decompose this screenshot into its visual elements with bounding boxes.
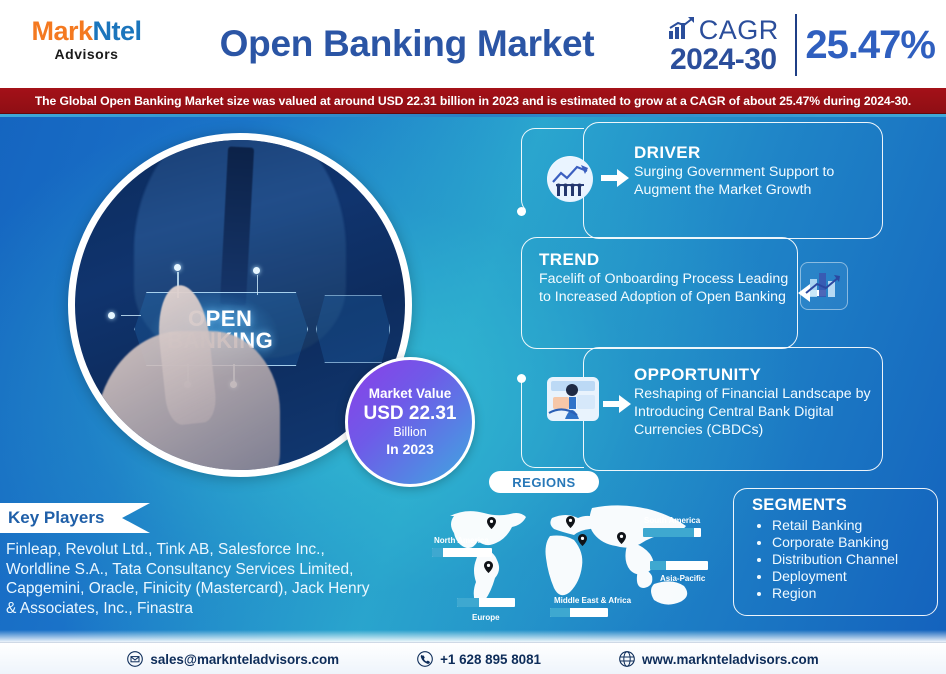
footer: sales@marknteladvisors.com +1 628 895 80… [0,642,946,674]
card-driver-title: DRIVER [634,143,874,163]
footer-shade [0,630,946,642]
list-item: Corporate Banking [772,534,937,551]
region-label-middle-east-africa: Middle East & Africa [554,596,631,605]
regions-label: REGIONS [489,471,599,493]
summary-banner: The Global Open Banking Market size was … [0,88,946,114]
key-players-label: Key Players [8,508,104,528]
cagr-period: 2024-30 [660,45,787,75]
region-bar-south-america [643,528,701,537]
government-growth-icon [547,156,593,202]
card-opportunity-text: Reshaping of Financial Landscape by Intr… [634,385,880,439]
card-driver-text: Surging Government Support to Augment th… [634,163,874,199]
globe-icon [619,651,635,667]
cagr-value: 25.47% [805,23,935,68]
card-trend-title: TREND [539,250,789,270]
market-value-label: Market Value [369,386,452,401]
footer-phone-text: +1 628 895 8081 [440,652,541,667]
segments-title: SEGMENTS [752,496,937,515]
cagr-left: CAGR 2024-30 [660,16,787,75]
logo-part-ntel: Ntel [93,16,142,46]
map-pin-south-america [484,560,492,571]
segments-list: Retail Banking Corporate Banking Distrib… [752,517,937,602]
cagr-block: CAGR 2024-30 25.47% [660,8,935,82]
arrow-right-icon [601,169,627,187]
page-title: Open Banking Market [172,16,642,72]
list-item: Region [772,585,937,602]
market-value-year: In 2023 [386,442,433,458]
phone-icon [417,651,433,667]
logo-wordmark: MarkNtel [14,18,159,45]
map-pin-europe [566,515,574,526]
region-label-south-america: South America [644,516,700,525]
region-label-europe: Europe [472,613,500,622]
market-value-amount: USD 22.31 [364,403,457,424]
header: MarkNtel Advisors Open Banking Market [0,0,946,88]
region-label-asia-pacific: Asia-Pacific [660,574,705,583]
cagr-label: CAGR [699,17,779,44]
infographic-page: MarkNtel Advisors Open Banking Market [0,0,946,674]
market-value-bubble: Market Value USD 22.31 Billion In 2023 [345,357,475,487]
footer-website-text: www.marknteladvisors.com [642,652,819,667]
list-item: Deployment [772,568,937,585]
key-players-text: Finleap, Revolut Ltd., Tink AB, Salesfor… [6,540,378,618]
map-pin-north-america [487,516,495,527]
digital-banking-person-icon [541,367,605,431]
card-opportunity-title: OPPORTUNITY [634,365,880,385]
arrow-right-icon-2 [603,395,629,413]
banner-underline [0,114,946,117]
market-value-unit: Billion [393,425,426,439]
footer-email[interactable]: sales@marknteladvisors.com [127,651,339,667]
region-label-north-america: North America [434,536,489,545]
card-driver: DRIVER Surging Government Support to Aug… [521,122,881,237]
map-pin-asia-pacific [617,531,625,542]
region-bar-middle-east-africa [550,608,608,617]
footer-phone[interactable]: +1 628 895 8081 [417,651,541,667]
footer-website[interactable]: www.marknteladvisors.com [619,651,819,667]
card-trend-text: Facelift of Onboarding Process Leading t… [539,270,789,306]
region-bar-europe [457,598,515,607]
brand-logo: MarkNtel Advisors [14,18,159,61]
bar-chart-icon [800,262,848,310]
region-bar-north-america [432,548,492,557]
world-map: North America Europe Middle East & Afric… [432,498,722,630]
list-item: Distribution Channel [772,551,937,568]
card-opportunity: OPPORTUNITY Reshaping of Financial Lands… [521,347,881,469]
region-bar-asia-pacific [650,561,708,570]
logo-part-mark: Mark [31,16,92,46]
email-icon [127,651,143,667]
map-pin-middle-east [578,533,586,544]
logo-subtitle: Advisors [14,47,159,61]
segments-box: SEGMENTS Retail Banking Corporate Bankin… [733,488,938,616]
bar-chart-growth-icon [668,16,696,44]
cagr-divider [795,14,798,76]
footer-email-text: sales@marknteladvisors.com [150,652,339,667]
list-item: Retail Banking [772,517,937,534]
